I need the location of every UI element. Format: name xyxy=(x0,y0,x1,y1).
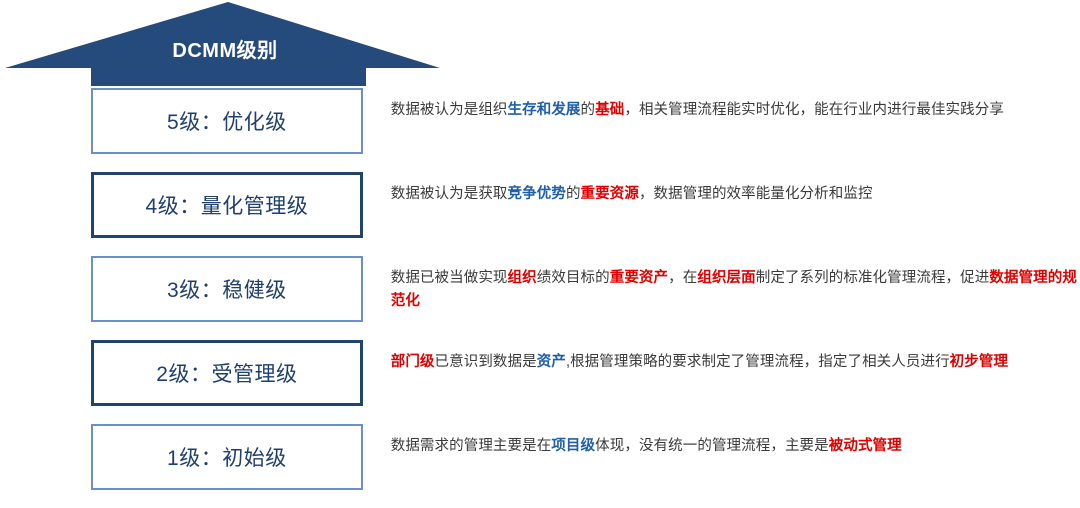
description-segment: 的 xyxy=(566,186,581,202)
level-box[interactable]: 5级：优化级 xyxy=(91,88,363,154)
level-box[interactable]: 1级：初始级 xyxy=(91,424,363,490)
level-row: 3级：稳健级数据已被当做实现组织绩效目标的重要资产，在组织层面制定了系列的标准化… xyxy=(0,256,1080,340)
level-box[interactable]: 2级：受管理级 xyxy=(91,340,363,406)
level-description: 数据被认为是组织生存和发展的基础，相关管理流程能实时优化，能在行业内进行最佳实践… xyxy=(391,88,1080,122)
description-segment: 被动式管理 xyxy=(829,438,902,454)
description-segment: 绩效目标的 xyxy=(537,270,610,286)
level-description: 数据需求的管理主要是在项目级体现，没有统一的管理流程，主要是被动式管理 xyxy=(391,424,1080,458)
description-segment: 部门级 xyxy=(391,354,435,370)
level-description: 数据被认为是获取竞争优势的重要资源，数据管理的效率能量化分析和监控 xyxy=(391,172,1080,206)
description-segment: 数据已被当做实现 xyxy=(391,270,508,286)
level-box[interactable]: 4级：量化管理级 xyxy=(91,172,363,238)
description-segment: 数据被认为是组织 xyxy=(391,102,508,118)
description-segment: 基础 xyxy=(595,102,624,118)
description-segment: 生存和发展 xyxy=(508,102,581,118)
level-box[interactable]: 3级：稳健级 xyxy=(91,256,363,322)
level-description: 数据已被当做实现组织绩效目标的重要资产，在组织层面制定了系列的标准化管理流程，促… xyxy=(391,256,1080,313)
description-segment: 资产 xyxy=(537,354,566,370)
level-row: 1级：初始级数据需求的管理主要是在项目级体现，没有统一的管理流程，主要是被动式管… xyxy=(0,424,1080,508)
description-segment: 已意识到数据是 xyxy=(435,354,537,370)
description-segment: 数据被认为是获取 xyxy=(391,186,508,202)
description-segment: ,根据管理策略的要求制定了管理流程，指定了相关人员进行 xyxy=(566,354,950,370)
description-segment: 制定了系列的标准化管理流程，促进 xyxy=(756,270,990,286)
level-row: 2级：受管理级部门级已意识到数据是资产,根据管理策略的要求制定了管理流程，指定了… xyxy=(0,340,1080,424)
description-segment: 数据需求的管理主要是在 xyxy=(391,438,552,454)
description-segment: 项目级 xyxy=(551,438,595,454)
description-segment: 的 xyxy=(581,102,596,118)
description-segment: 重要资产 xyxy=(610,270,668,286)
description-segment: 重要资源 xyxy=(581,186,639,202)
dcmm-level-banner: DCMM级别 xyxy=(0,0,450,86)
description-segment: ，在 xyxy=(668,270,697,286)
description-segment: 组织 xyxy=(508,270,537,286)
level-row: 5级：优化级数据被认为是组织生存和发展的基础，相关管理流程能实时优化，能在行业内… xyxy=(0,88,1080,172)
description-segment: 体现，没有统一的管理流程，主要是 xyxy=(595,438,829,454)
level-description: 部门级已意识到数据是资产,根据管理策略的要求制定了管理流程，指定了相关人员进行初… xyxy=(391,340,1080,374)
up-arrow-banner-icon xyxy=(0,0,450,86)
level-row: 4级：量化管理级数据被认为是获取竞争优势的重要资源，数据管理的效率能量化分析和监… xyxy=(0,172,1080,256)
dcmm-level-list: 5级：优化级数据被认为是组织生存和发展的基础，相关管理流程能实时优化，能在行业内… xyxy=(0,88,1080,508)
description-segment: 竞争优势 xyxy=(508,186,566,202)
description-segment: 初步管理 xyxy=(950,354,1008,370)
description-segment: ，数据管理的效率能量化分析和监控 xyxy=(639,186,873,202)
description-segment: ，相关管理流程能实时优化，能在行业内进行最佳实践分享 xyxy=(624,102,1004,118)
description-segment: 组织层面 xyxy=(697,270,755,286)
